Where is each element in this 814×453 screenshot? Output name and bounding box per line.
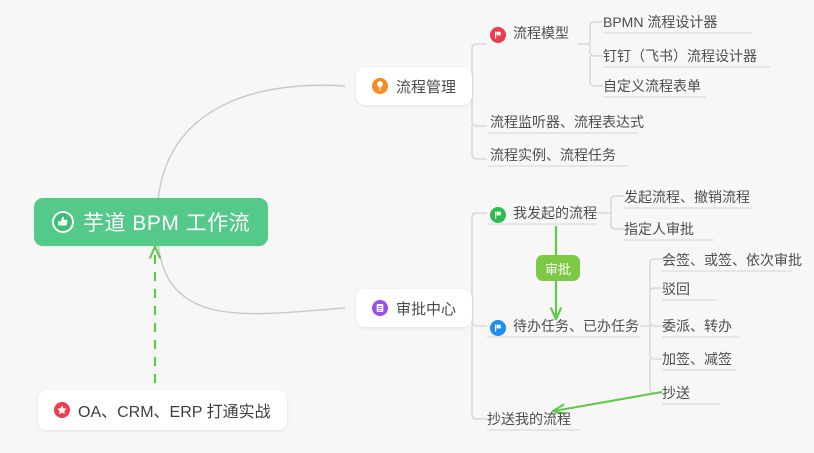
root-label: 芋道 BPM 工作流 — [83, 207, 250, 237]
node-label-start-cancel-process: 发起流程、撤销流程 — [624, 187, 750, 207]
node-delegate-transfer[interactable]: 委派、转办 — [662, 312, 732, 338]
branch-node-process-management[interactable]: 流程管理 — [356, 67, 472, 105]
node-label-reject: 驳回 — [662, 279, 690, 299]
branch-node-approval-center[interactable]: 审批中心 — [356, 289, 472, 327]
node-label-my-started-process: 我发起的流程 — [513, 203, 597, 223]
clipboard-icon — [372, 300, 388, 316]
node-my-started-process[interactable]: 我发起的流程 — [490, 199, 597, 225]
node-start-cancel-process[interactable]: 发起流程、撤销流程 — [624, 183, 750, 209]
node-assignee-approval[interactable]: 指定人审批 — [624, 215, 694, 241]
node-label-delegate-transfer: 委派、转办 — [662, 316, 732, 336]
footer-node-integration[interactable]: OA、CRM、ERP 打通实战 — [38, 390, 287, 430]
trunk-todo-done — [650, 259, 662, 393]
node-dingtalk-feishu-designer[interactable]: 钉钉（飞书）流程设计器 — [603, 42, 757, 68]
node-todo-done-tasks[interactable]: 待办任务、已办任务 — [490, 312, 639, 338]
footer-label: OA、CRM、ERP 打通实战 — [78, 398, 271, 422]
node-label-add-remove-sign: 加签、减签 — [662, 349, 732, 369]
node-process-model[interactable]: 流程模型 — [490, 19, 569, 45]
trunk-process-management — [472, 44, 487, 159]
node-label-custom-process-form: 自定义流程表单 — [603, 76, 701, 96]
node-reject[interactable]: 驳回 — [662, 275, 690, 301]
node-listener-expression[interactable]: 流程监听器、流程表达式 — [490, 108, 644, 134]
flag-blue-icon — [490, 320, 506, 336]
edge-root-to-process-management — [158, 85, 345, 200]
node-label-dingtalk-feishu-designer: 钉钉（飞书）流程设计器 — [603, 46, 757, 66]
node-label-instance-task: 流程实例、流程任务 — [490, 145, 616, 165]
node-bpmn-designer[interactable]: BPMN 流程设计器 — [603, 8, 717, 34]
trunk-my-started — [611, 196, 624, 229]
node-custom-process-form[interactable]: 自定义流程表单 — [603, 72, 701, 98]
node-add-remove-sign[interactable]: 加签、减签 — [662, 345, 732, 371]
node-label-carbon-copy: 抄送 — [662, 383, 690, 403]
lightbulb-icon — [372, 78, 388, 94]
root-node[interactable]: 芋道 BPM 工作流 — [34, 198, 268, 246]
branch-label-process-management: 流程管理 — [396, 76, 456, 97]
trunk-approval-center — [472, 213, 487, 419]
node-label-todo-done-tasks: 待办任务、已办任务 — [513, 316, 639, 336]
approval-tag: 审批 — [536, 255, 580, 281]
node-instance-task[interactable]: 流程实例、流程任务 — [490, 141, 616, 167]
node-carbon-copy[interactable]: 抄送 — [662, 379, 690, 405]
node-label-process-model: 流程模型 — [513, 23, 569, 43]
star-icon — [54, 402, 70, 418]
branch-label-approval-center: 审批中心 — [396, 298, 456, 319]
node-label-listener-expression: 流程监听器、流程表达式 — [490, 112, 644, 132]
flag-red-icon — [490, 27, 506, 43]
node-label-assignee-approval: 指定人审批 — [624, 219, 694, 239]
trunk-process-model — [590, 22, 603, 86]
node-countersign[interactable]: 会签、或签、依次审批 — [662, 246, 802, 272]
node-label-bpmn-designer: BPMN 流程设计器 — [603, 12, 717, 32]
thumbs-up-icon — [52, 211, 74, 233]
node-label-countersign: 会签、或签、依次审批 — [662, 250, 802, 270]
approval-tag-label: 审批 — [545, 259, 571, 278]
mindmap-canvas: 芋道 BPM 工作流 OA、CRM、ERP 打通实战 审批 流程管理 — [0, 0, 814, 453]
flag-green-icon — [490, 207, 506, 223]
node-cc-to-me[interactable]: 抄送我的流程 — [487, 405, 571, 431]
node-label-cc-to-me: 抄送我的流程 — [487, 409, 571, 429]
edge-root-to-approval-center — [158, 244, 345, 314]
